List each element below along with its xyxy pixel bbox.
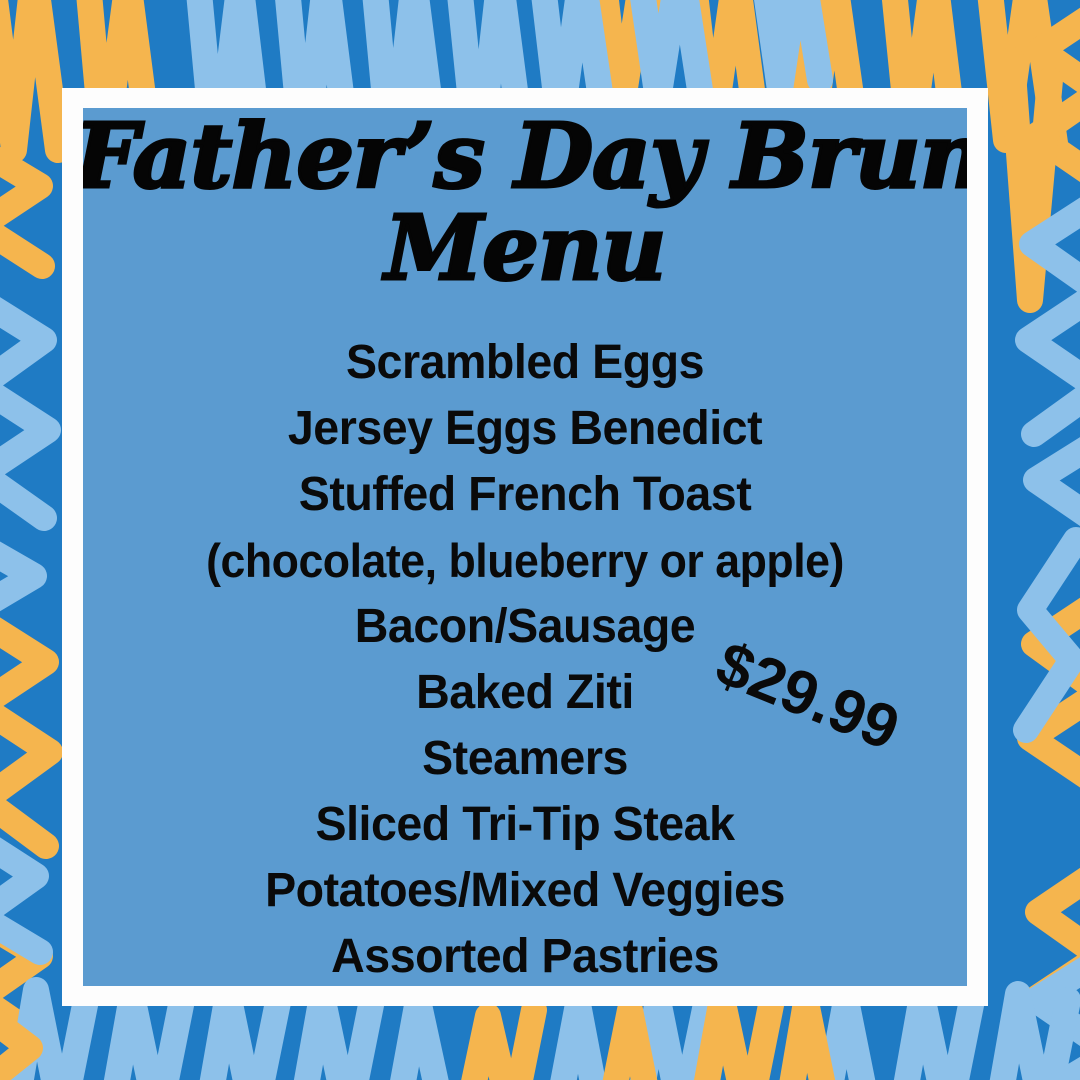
menu-panel: Father’s Day Brunch Menu Scrambled Eggs … <box>83 108 967 986</box>
menu-item-potatoes-mixed-veggies: Potatoes/Mixed Veggies <box>96 858 953 924</box>
menu-item-scrambled-eggs: Scrambled Eggs <box>96 330 953 396</box>
menu-item-french-toast-flavors: (chocolate, blueberry or apple) <box>105 528 945 594</box>
menu-item-sliced-tri-tip-steak: Sliced Tri-Tip Steak <box>96 792 953 858</box>
title-line-2: Menu <box>83 202 967 294</box>
title-line-1: Father’s Day Brunch <box>83 110 967 202</box>
poster-title: Father’s Day Brunch Menu <box>83 110 967 294</box>
menu-item-list: Scrambled Eggs Jersey Eggs Benedict Stuf… <box>83 330 967 986</box>
fathers-day-brunch-menu-poster: Father’s Day Brunch Menu Scrambled Eggs … <box>0 0 1080 1080</box>
menu-item-assorted-pastries: Assorted Pastries <box>96 924 953 986</box>
menu-item-bacon-sausage: Bacon/Sausage <box>96 594 953 660</box>
menu-item-jersey-eggs-benedict: Jersey Eggs Benedict <box>96 396 953 462</box>
menu-item-stuffed-french-toast: Stuffed French Toast <box>96 462 953 528</box>
